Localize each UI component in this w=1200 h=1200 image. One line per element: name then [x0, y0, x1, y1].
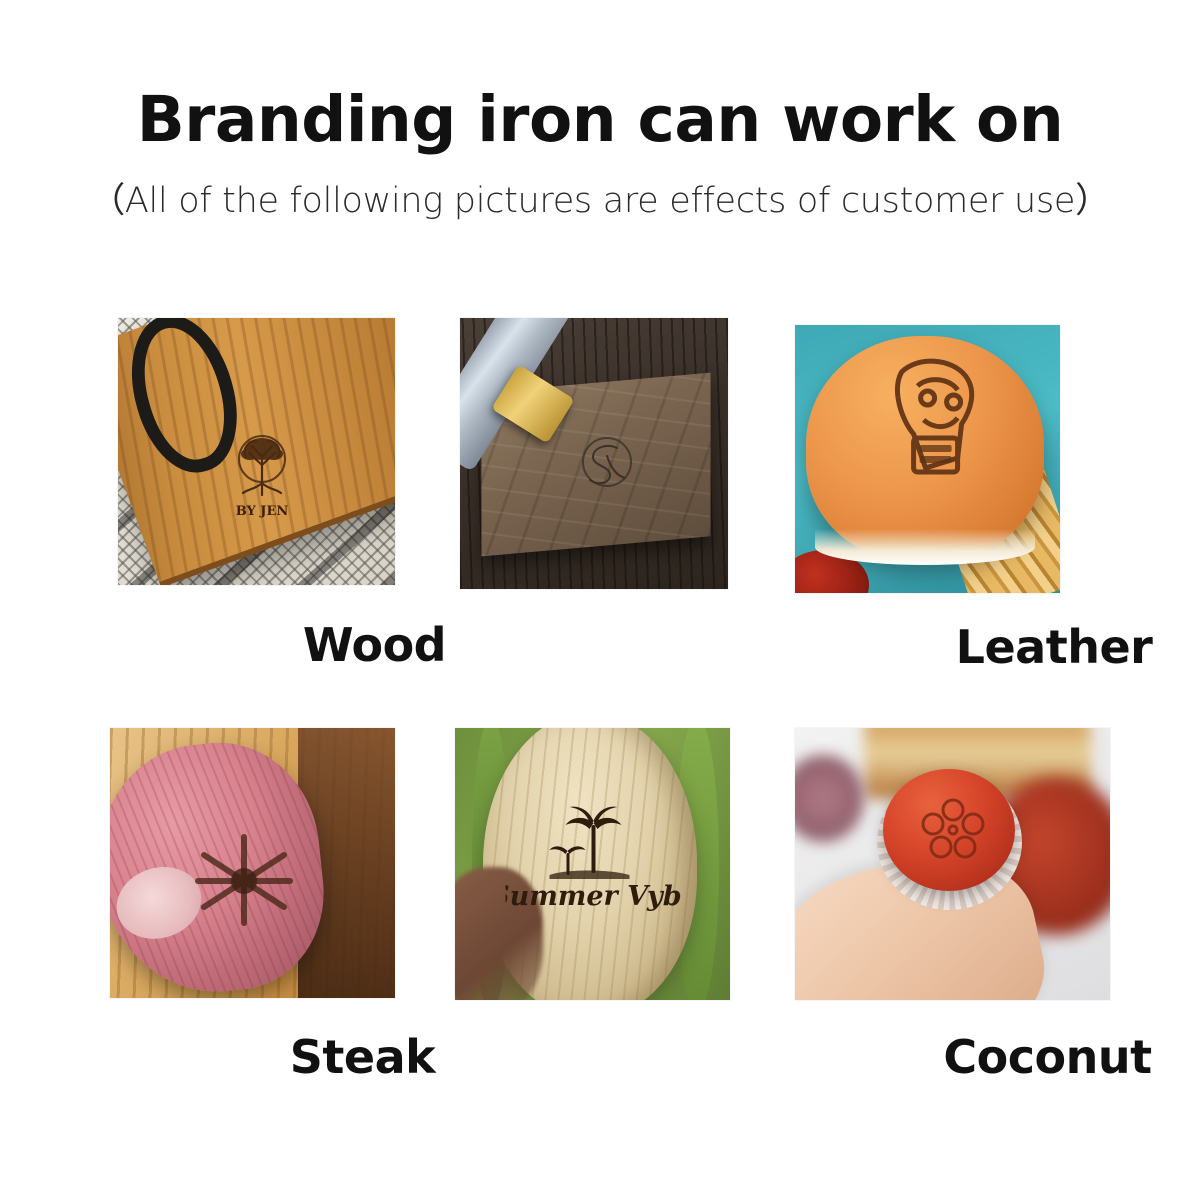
material-row: Steak — [0, 715, 1200, 1130]
material-row: BY JEN Wood — [0, 300, 1200, 715]
character-brand-icon — [865, 346, 995, 521]
coconut-photo: Summer Vybz — [455, 728, 730, 1000]
material-cell-coconut[interactable]: Summer Vybz Coconut — [455, 728, 730, 1000]
caption-steak: Steak — [220, 1030, 505, 1084]
coconut-brand-text: Summer Vybz — [505, 881, 680, 912]
page-subtitle: （All of the following pictures are effec… — [0, 154, 1200, 223]
starburst-brand-icon — [184, 825, 304, 935]
caption-coconut: Coconut — [905, 1030, 1190, 1084]
palm-tree-brand-icon: Summer Vybz — [505, 793, 680, 923]
material-grid: BY JEN Wood — [0, 300, 1200, 1130]
leather-photo — [460, 318, 728, 589]
caption-wood: Wood — [236, 618, 513, 672]
material-cell-cake[interactable]: Cake — [795, 728, 1110, 1000]
caption-leather: Leather — [915, 620, 1193, 674]
flower-brand-icon — [916, 793, 990, 867]
page-title: Branding iron can work on — [0, 0, 1200, 154]
tree-of-life-brand-icon: BY JEN — [216, 425, 308, 521]
bread-photo — [795, 325, 1060, 593]
wood-photo: BY JEN — [118, 318, 395, 585]
material-cell-leather[interactable]: Leather — [460, 318, 728, 589]
page-header: Branding iron can work on （All of the fo… — [0, 0, 1200, 223]
material-cell-wood[interactable]: BY JEN Wood — [118, 318, 395, 585]
cake-photo — [795, 728, 1110, 1000]
monogram-brand-icon — [562, 426, 652, 498]
material-cell-steak[interactable]: Steak — [110, 728, 395, 998]
wood-brand-text: BY JEN — [236, 504, 289, 519]
steak-photo — [110, 728, 395, 998]
material-cell-bread[interactable]: Bread — [795, 325, 1060, 593]
